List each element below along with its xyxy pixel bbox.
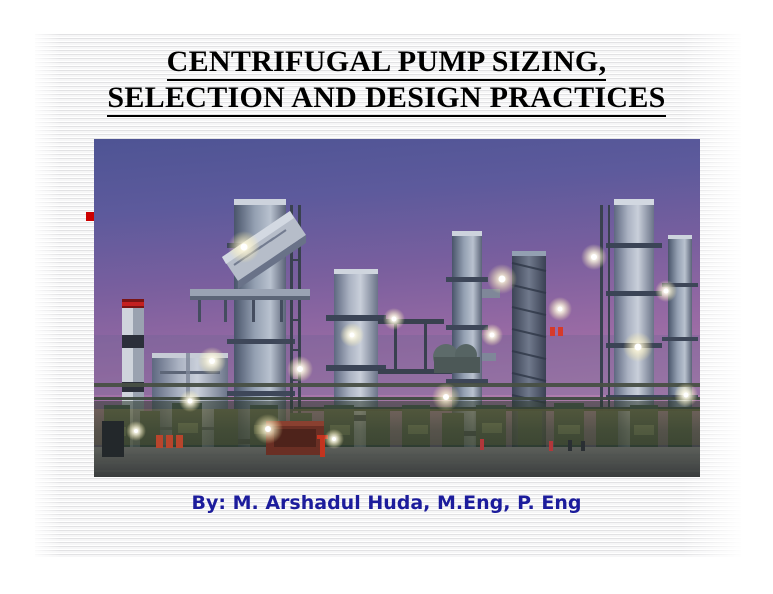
- title-line-1: CENTRIFUGAL PUMP SIZING,: [0, 44, 773, 80]
- refinery-photo: [94, 139, 700, 477]
- red-square-bullet-icon: [86, 212, 94, 221]
- refinery-photo-graphic: [94, 139, 700, 477]
- title-line-2-text: SELECTION AND DESIGN PRACTICES: [107, 81, 665, 117]
- title-line-2: SELECTION AND DESIGN PRACTICES: [0, 80, 773, 116]
- author-byline-text: By: M. Arshadul Huda, M.Eng, P. Eng: [192, 492, 582, 514]
- presentation-slide: CENTRIFUGAL PUMP SIZING, SELECTION AND D…: [0, 0, 773, 594]
- author-byline: By: M. Arshadul Huda, M.Eng, P. Eng: [0, 491, 773, 515]
- slide-title: CENTRIFUGAL PUMP SIZING, SELECTION AND D…: [0, 44, 773, 116]
- title-line-1-text: CENTRIFUGAL PUMP SIZING,: [167, 45, 607, 81]
